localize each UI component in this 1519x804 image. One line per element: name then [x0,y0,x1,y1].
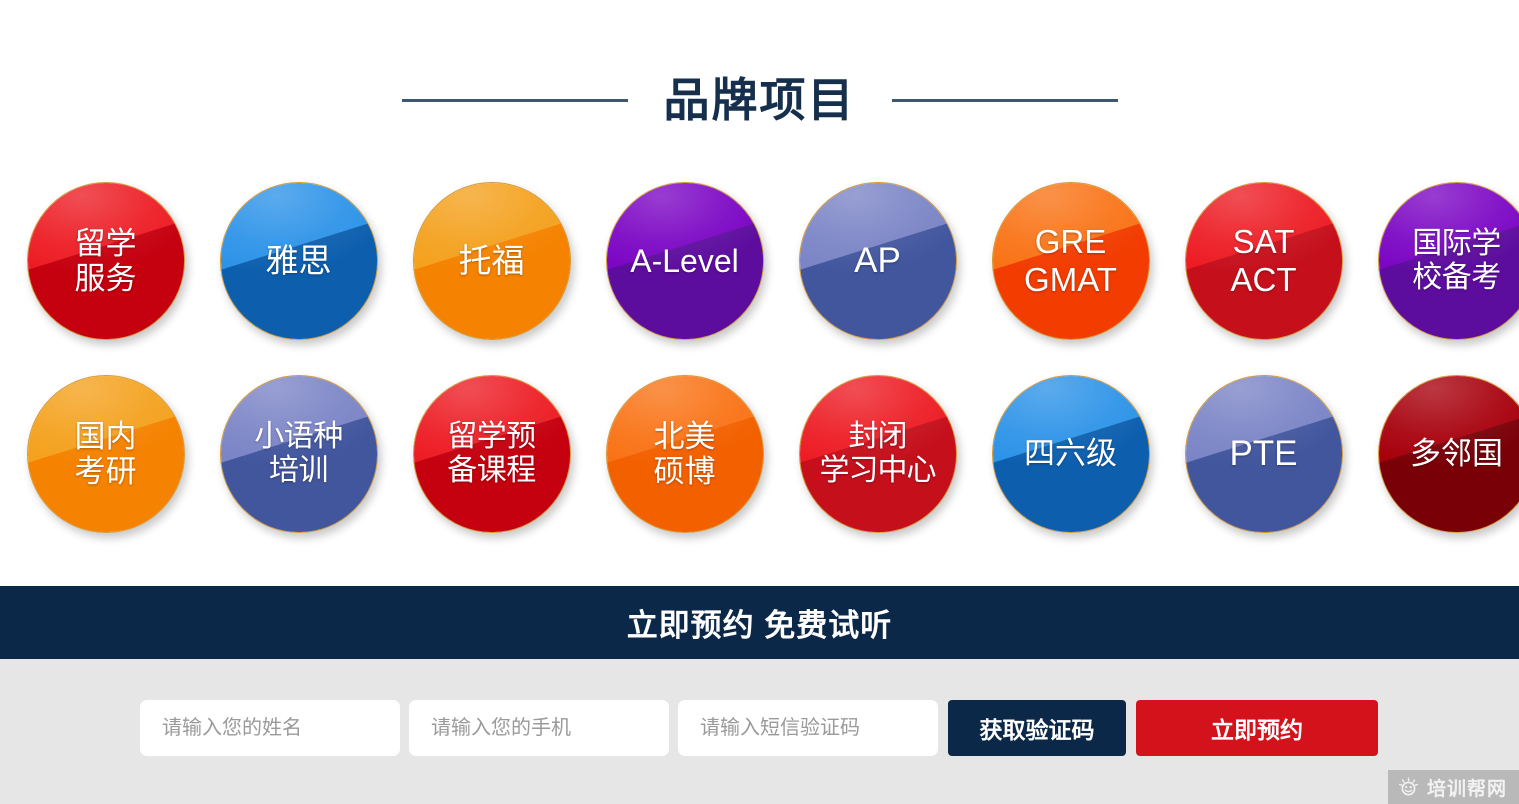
watermark-label: 培训帮网 [1427,774,1507,801]
site-watermark: 培训帮网 [1388,770,1519,804]
program-bubble-10[interactable]: 小语种 培训 [220,375,378,533]
program-row-1: 留学 服务雅思托福A-LevelAPGRE GMATSAT ACT国际学 校备考 [0,182,1519,375]
title-rule-right [892,99,1118,102]
program-bubble-8[interactable]: 国际学 校备考 [1378,182,1519,340]
program-label: 雅思 [266,242,332,280]
program-bubble-1[interactable]: 留学 服务 [27,182,185,340]
title-rule-left [402,99,628,102]
program-label: AP [854,241,901,281]
program-bubble-9[interactable]: 国内 考研 [27,375,185,533]
program-label: 封闭 学习中心 [800,420,956,488]
program-cell: 留学 服务 [9,182,202,375]
section-header: 品牌项目 [0,60,1519,140]
page-root: 品牌项目 留学 服务雅思托福A-LevelAPGRE GMATSAT ACT国际… [0,0,1519,804]
program-cell: 四六级 [974,375,1167,568]
program-cell: 雅思 [202,182,395,375]
cta-banner: 立即预约 免费试听 [0,586,1519,659]
program-label: 国内 考研 [75,419,137,490]
program-cell: 小语种 培训 [202,375,395,568]
program-bubble-7[interactable]: SAT ACT [1185,182,1343,340]
program-bubble-4[interactable]: A-Level [606,182,764,340]
program-cell: SAT ACT [1167,182,1360,375]
sms-code-input[interactable] [678,700,938,756]
submit-booking-button[interactable]: 立即预约 [1136,700,1378,756]
program-bubble-5[interactable]: AP [799,182,957,340]
program-bubble-2[interactable]: 雅思 [220,182,378,340]
program-label: 留学预 备课程 [447,420,536,488]
get-sms-code-button[interactable]: 获取验证码 [948,700,1126,756]
program-cell: A-Level [588,182,781,375]
program-label: 托福 [459,242,525,280]
program-label: 四六级 [1024,436,1117,471]
booking-form-section: 获取验证码 立即预约 [0,659,1519,804]
program-bubble-13[interactable]: 封闭 学习中心 [799,375,957,533]
program-bubble-6[interactable]: GRE GMAT [992,182,1150,340]
program-grid: 留学 服务雅思托福A-LevelAPGRE GMATSAT ACT国际学 校备考… [0,182,1519,568]
name-input[interactable] [140,700,400,756]
program-cell: PTE [1167,375,1360,568]
program-cell: 封闭 学习中心 [781,375,974,568]
program-bubble-3[interactable]: 托福 [413,182,571,340]
program-cell: 托福 [395,182,588,375]
program-label: GRE GMAT [1024,223,1117,298]
sun-face-icon [1398,777,1419,798]
program-cell: 多邻国 [1360,375,1519,568]
program-cell: AP [781,182,974,375]
page-title: 品牌项目 [664,77,856,123]
program-label: 小语种 培训 [254,420,343,488]
program-bubble-12[interactable]: 北美 硕博 [606,375,764,533]
program-row-2: 国内 考研小语种 培训留学预 备课程北美 硕博封闭 学习中心四六级PTE多邻国 [0,375,1519,568]
program-label: 留学 服务 [75,226,137,297]
cta-headline: 立即预约 免费试听 [627,600,893,645]
program-bubble-14[interactable]: 四六级 [992,375,1150,533]
program-cell: 国际学 校备考 [1360,182,1519,375]
program-bubble-11[interactable]: 留学预 备课程 [413,375,571,533]
program-label: SAT ACT [1231,223,1297,298]
program-label: 国际学 校备考 [1412,227,1501,295]
program-cell: GRE GMAT [974,182,1167,375]
booking-form: 获取验证码 立即预约 [140,700,1378,756]
program-label: A-Level [630,243,739,279]
program-bubble-16[interactable]: 多邻国 [1378,375,1519,533]
program-cell: 北美 硕博 [588,375,781,568]
phone-input[interactable] [409,700,669,756]
program-label: PTE [1229,434,1297,474]
program-label: 北美 硕博 [654,419,716,490]
program-cell: 国内 考研 [9,375,202,568]
program-cell: 留学预 备课程 [395,375,588,568]
program-label: 多邻国 [1410,436,1503,471]
program-bubble-15[interactable]: PTE [1185,375,1343,533]
